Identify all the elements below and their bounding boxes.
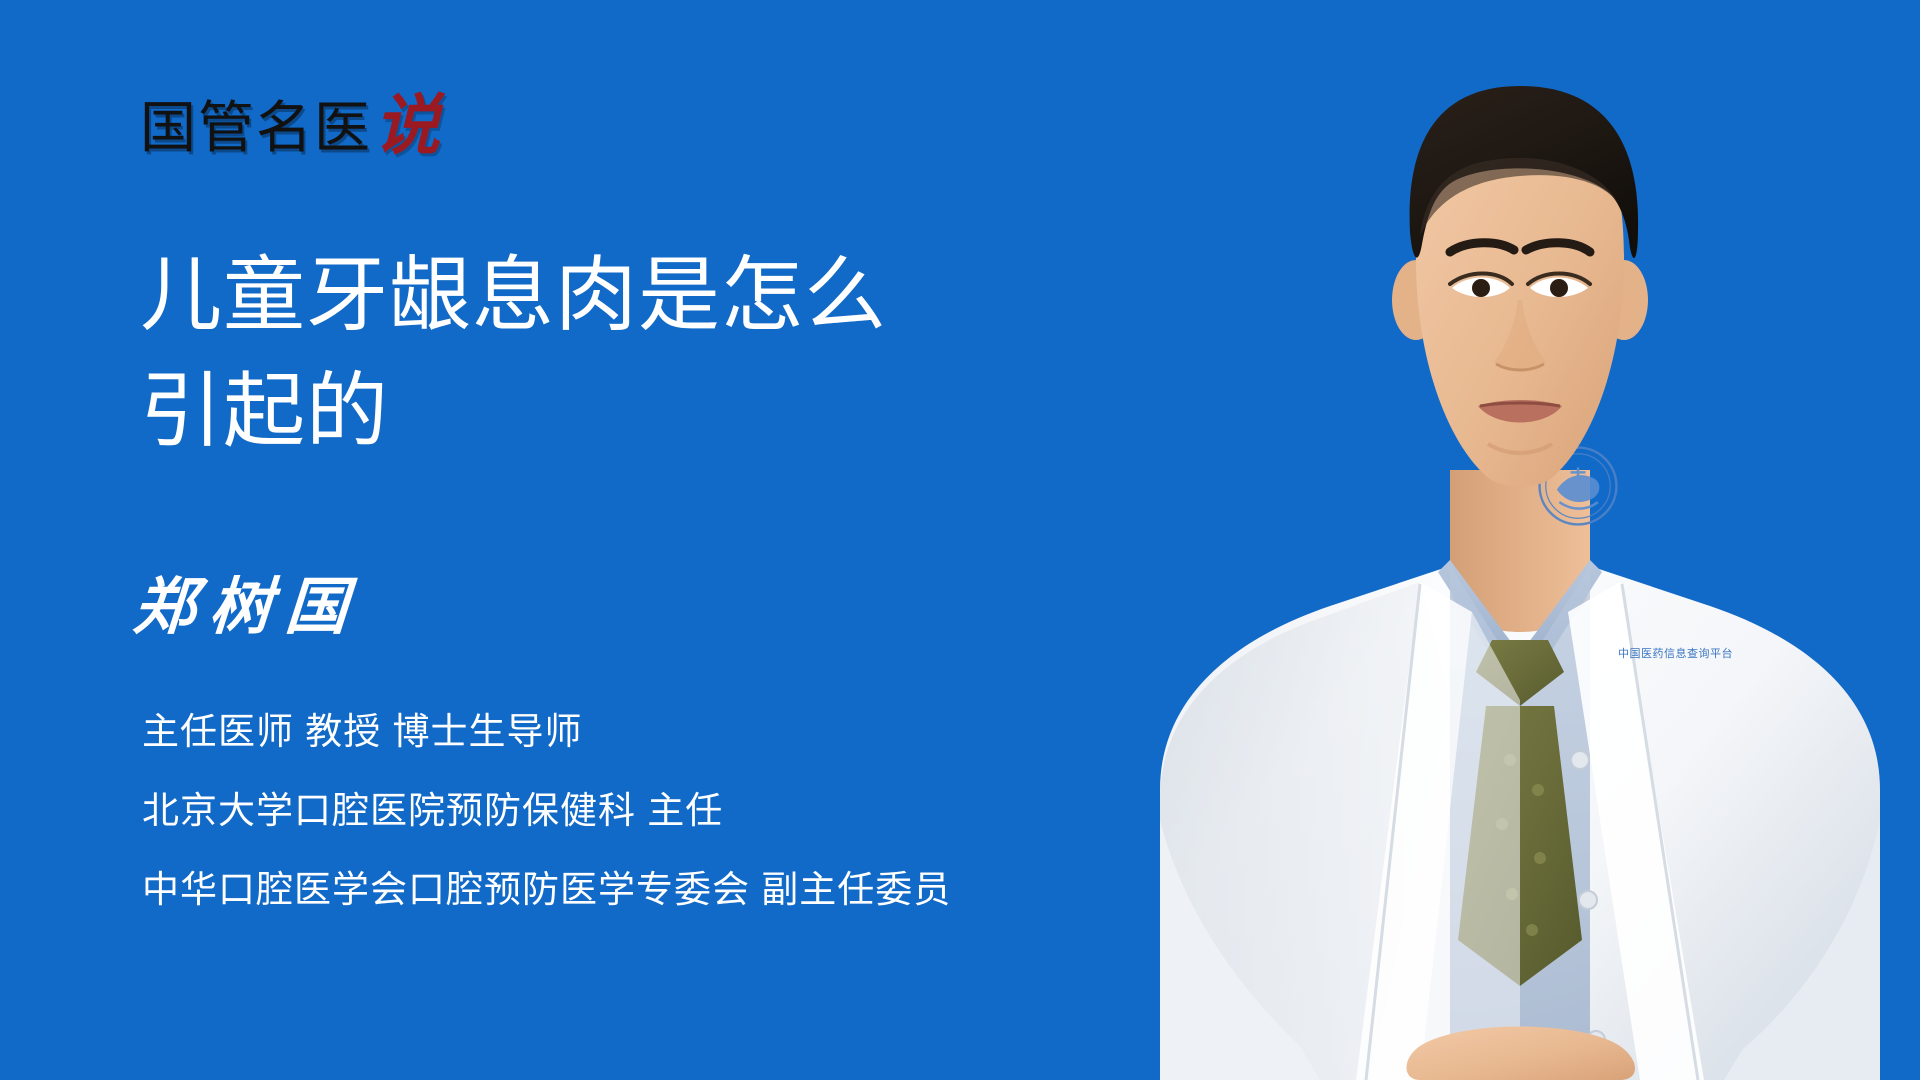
video-cover-slide: 国管名医 说 儿童牙龈息肉是怎么 引起的 郑树国 主任医师 教授 博士生导师 北… (0, 0, 1920, 1080)
title-line-2: 引起的 (140, 354, 1140, 470)
page-title: 儿童牙龈息肉是怎么 引起的 (140, 238, 1140, 471)
program-logo-accent-text: 说 (374, 94, 440, 160)
program-logo-main-text: 国管名医 (140, 100, 372, 156)
doctor-credentials: 主任医师 教授 博士生导师 北京大学口腔医院预防保健科 主任 中华口腔医学会口腔… (142, 713, 1162, 908)
credential-line: 中华口腔医学会口腔预防医学专委会 副主任委员 (142, 871, 1162, 908)
title-line-1: 儿童牙龈息肉是怎么 (140, 238, 1140, 354)
credential-line: 主任医师 教授 博士生导师 (142, 713, 1162, 750)
doctor-portrait-photo (1120, 0, 1920, 1080)
credential-line: 北京大学口腔医院预防保健科 主任 (142, 792, 1162, 829)
doctor-name: 郑树国 (131, 556, 365, 646)
coat-badge-caption: 中国医药信息查询平台 (1618, 645, 1733, 661)
program-logo: 国管名医 说 (140, 94, 440, 156)
text-column: 国管名医 说 儿童牙龈息肉是怎么 引起的 郑树国 主任医师 教授 博士生导师 北… (0, 0, 1180, 1080)
